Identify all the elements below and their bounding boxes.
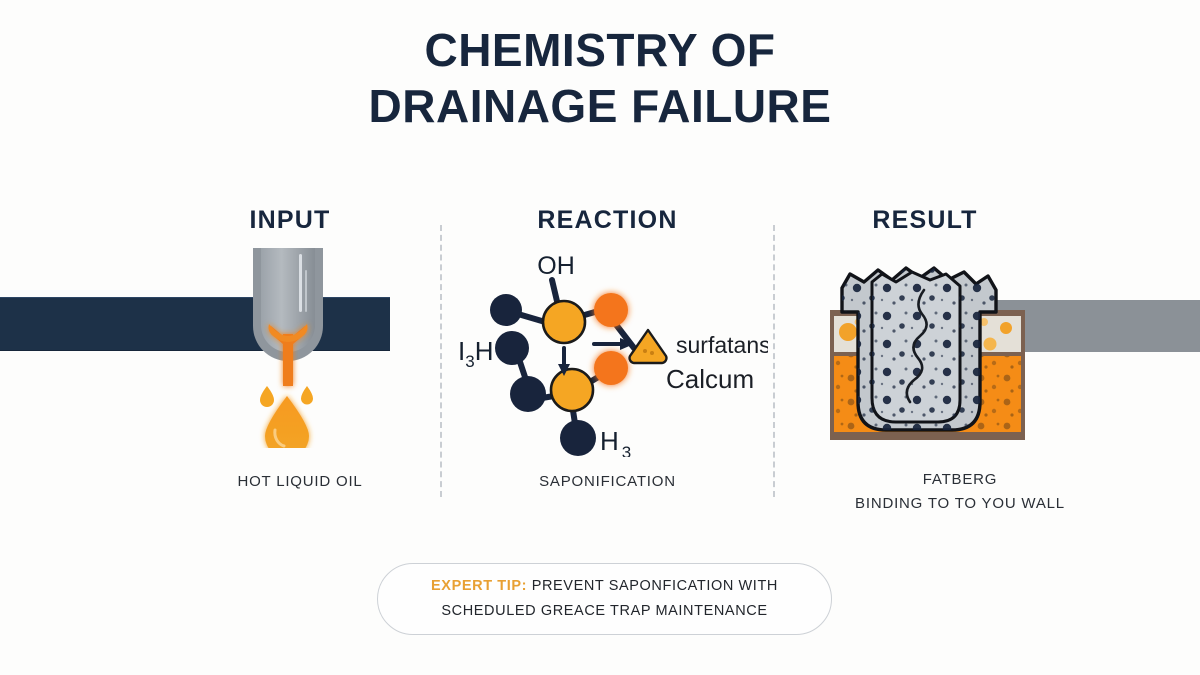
caption-input: HOT LIQUID OIL	[160, 470, 440, 494]
pipe-floor	[830, 432, 1025, 442]
caption-result-line-1: FATBERG	[923, 471, 998, 488]
molecule-node-orange-top	[594, 293, 628, 327]
label-calcium: Calcum	[666, 364, 754, 394]
molecule-svg: OH I3H H3 surfatans Calcum	[448, 252, 768, 457]
column-divider-1	[440, 225, 442, 497]
column-heading-input: INPUT	[150, 206, 430, 235]
label-hydroxyl: OH	[537, 252, 575, 280]
label-surfactant: surfatans	[676, 332, 768, 358]
expert-tip-body-line-2: SCHEDULED GREACE TRAP MAINTENANCE	[441, 603, 767, 619]
molecule-node-amber-bottom	[551, 369, 593, 411]
illustration-fatberg-cross-section	[820, 252, 1035, 452]
column-heading-reaction: REACTION	[465, 206, 750, 235]
caption-result-line-2: BINDING TO TO YOU WALL	[810, 492, 1110, 516]
caption-reaction: SAPONIFICATION	[465, 470, 750, 494]
molecule-node-navy-bottom	[560, 420, 596, 456]
molecule-node-amber-top	[543, 301, 585, 343]
illustration-saponification-molecules: OH I3H H3 surfatans Calcum	[448, 252, 768, 457]
oil-droplet-small-right	[301, 386, 313, 405]
pan-highlight-streak-2	[305, 270, 307, 312]
label-left-chain: I3H	[458, 336, 493, 371]
column-heading-result: RESULT	[800, 206, 1050, 235]
caption-result: FATBERG BINDING TO TO YOU WALL	[810, 468, 1110, 516]
infographic-canvas: CHEMISTRY OF DRAINAGE FAILURE INPUT REAC…	[0, 0, 1200, 675]
label-bottom-chain: H3	[600, 426, 631, 457]
expert-tip-pill: EXPERT TIP: PREVENT SAPONFICATION WITH S…	[377, 563, 832, 635]
caption-input-line-1: HOT LIQUID OIL	[237, 473, 362, 490]
title-line-1: CHEMISTRY OF	[424, 24, 775, 76]
title-line-2: DRAINAGE FAILURE	[0, 78, 1200, 134]
fatberg-mass	[842, 268, 996, 430]
expert-tip-body-line-1: PREVENT SAPONFICATION WITH	[527, 578, 778, 594]
fatberg-svg	[820, 252, 1035, 452]
caption-reaction-line-1: SAPONIFICATION	[539, 473, 676, 490]
molecule-node-orange-bottom	[594, 351, 628, 385]
illustration-hot-oil-pour	[195, 248, 440, 448]
oil-droplet-small-left	[260, 386, 274, 407]
column-divider-2	[773, 225, 775, 497]
page-title: CHEMISTRY OF DRAINAGE FAILURE	[0, 22, 1200, 134]
molecule-node-navy-top-left	[490, 294, 522, 326]
pan-oil-svg	[195, 248, 440, 448]
expert-tip-text: EXPERT TIP: PREVENT SAPONFICATION WITH S…	[405, 574, 804, 624]
pan-highlight-streak	[299, 254, 302, 312]
expert-tip-label: EXPERT TIP:	[431, 578, 527, 594]
molecule-node-navy-lower-left	[510, 376, 546, 412]
molecule-node-navy-mid-left	[495, 331, 529, 365]
